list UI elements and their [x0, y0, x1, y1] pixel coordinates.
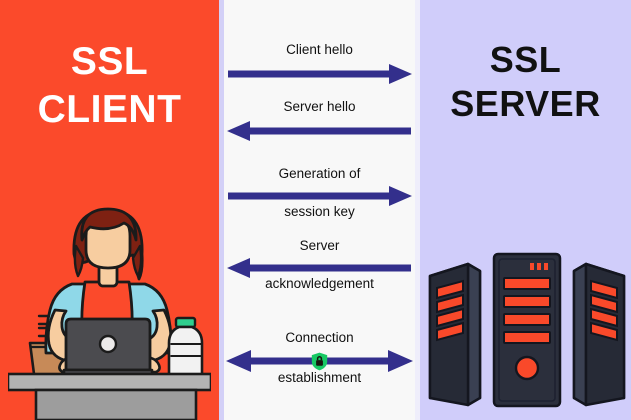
ssl-handshake-diagram: SSL CLIENT	[0, 0, 631, 420]
laptop-icon	[64, 319, 152, 376]
message-label-server-hello: Server hello	[219, 99, 420, 114]
arrow-left-server-hello	[219, 120, 420, 142]
woman-at-laptop-illustration	[8, 206, 211, 420]
server-racks-illustration	[424, 240, 630, 420]
arrow-right-client-hello	[219, 63, 420, 85]
desk	[8, 374, 211, 420]
server-power-button	[516, 357, 538, 379]
server-tower-right	[574, 264, 624, 405]
client-title: SSL CLIENT	[0, 38, 219, 133]
message-label-connection: Connection	[219, 330, 420, 345]
message-label-server: Server	[219, 238, 420, 253]
message-label-acknowledgement: acknowledgement	[219, 276, 420, 291]
message-label-establishment: establishment	[219, 370, 420, 385]
message-label-session-key: session key	[219, 204, 420, 219]
server-status-leds	[530, 263, 548, 270]
server-tower-left	[430, 264, 480, 405]
lock-shield-icon	[311, 352, 328, 371]
message-row-server-acknowledgement: Server acknowledgement	[219, 238, 420, 290]
message-row-client-hello: Client hello	[219, 42, 420, 78]
server-tower-center	[494, 254, 560, 406]
message-row-generation-of-session-key: Generation of session key	[219, 166, 420, 218]
server-title: SSL SERVER	[420, 38, 631, 126]
message-label-client-hello: Client hello	[219, 42, 420, 57]
message-row-connection-establishment: Connection establishment	[219, 330, 420, 384]
message-row-server-hello: Server hello	[219, 99, 420, 135]
message-label-generation-of: Generation of	[219, 166, 420, 181]
water-bottle-icon	[169, 318, 203, 379]
